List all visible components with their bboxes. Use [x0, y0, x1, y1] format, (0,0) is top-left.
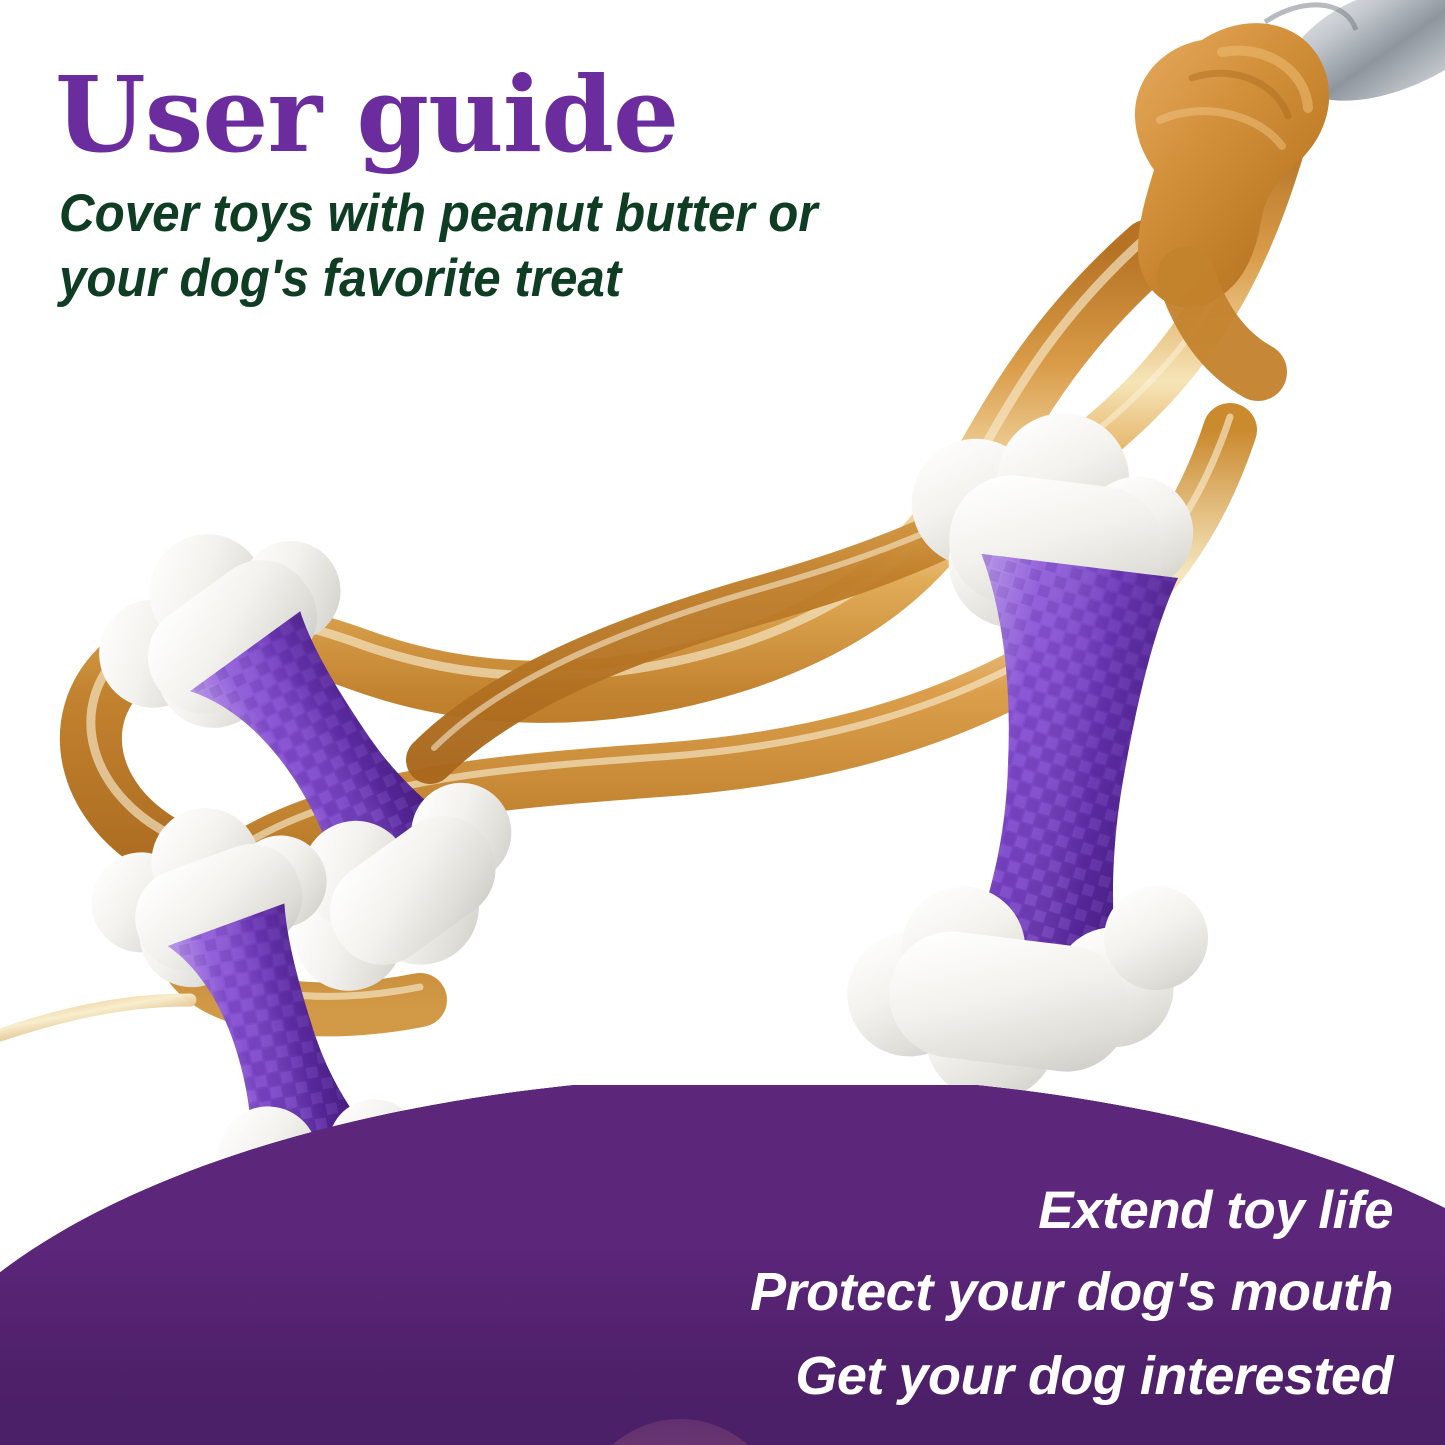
peanut-butter-on-spoon	[1135, 0, 1445, 372]
headline-block: User guide Cover toys with peanut butter…	[55, 62, 935, 311]
spoon-icon	[1285, 0, 1445, 101]
poster-canvas: User guide Cover toys with peanut butter…	[0, 0, 1445, 1445]
benefits-list: Extend toy life Protect your dog's mouth…	[750, 1171, 1393, 1417]
benefit-item-1: Extend toy life	[750, 1171, 1393, 1252]
dog-bone-chew-toy-right	[836, 395, 1270, 1125]
peanut-butter-tail	[0, 1000, 190, 1035]
peanut-butter-dollop	[1135, 23, 1329, 308]
page-subtitle: Cover toys with peanut butter or your do…	[59, 182, 874, 311]
benefit-item-2: Protect your dog's mouth	[750, 1251, 1393, 1335]
subtitle-line-1: Cover toys with peanut butter or	[59, 182, 874, 247]
benefits-banner: Extend toy life Protect your dog's mouth…	[0, 1085, 1445, 1445]
page-title: User guide	[55, 62, 935, 168]
benefit-item-3: Get your dog interested	[750, 1335, 1393, 1417]
peanut-butter-swirl-back	[91, 234, 1150, 889]
peanut-butter-swirl-loop	[181, 417, 1230, 1009]
subtitle-line-2: your dog's favorite treat	[59, 247, 874, 312]
dog-bone-chew-toy-left-upper	[58, 476, 560, 1030]
